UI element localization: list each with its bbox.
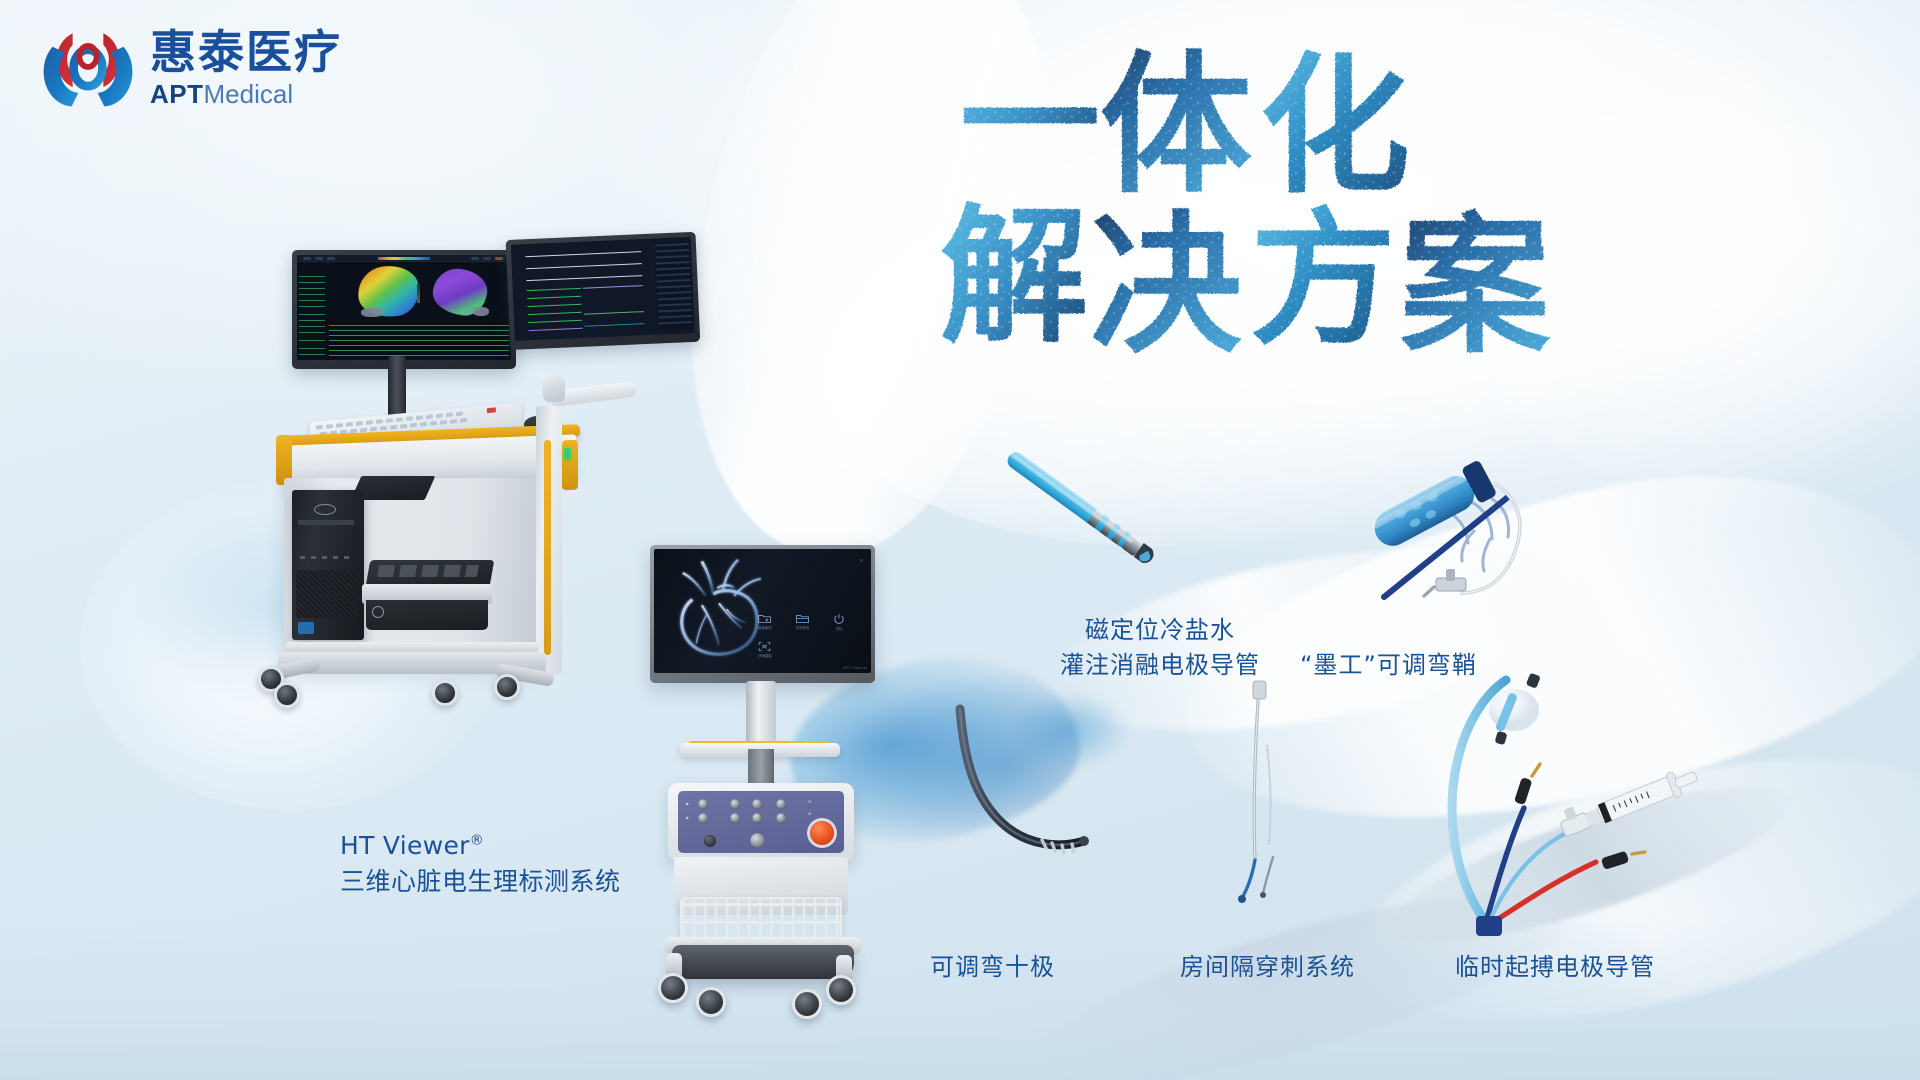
- svg-text:案: 案: [1400, 200, 1551, 374]
- monitor-indicator-dot: [860, 559, 863, 562]
- printer-power-button[interactable]: [372, 606, 384, 618]
- connector-port[interactable]: [698, 813, 708, 823]
- keyboard-red-key[interactable]: [487, 407, 496, 413]
- connector-port[interactable]: [698, 799, 708, 809]
- decapolar-catheter-image: [950, 715, 1090, 935]
- mapping-monitor-screen: [297, 255, 511, 360]
- label-pacing-line1: 临时起搏电极导管: [1455, 947, 1655, 982]
- ep-procedure-cart: 新建病例 历史病例 关机: [650, 545, 910, 1045]
- svg-text:化: 化: [1260, 40, 1410, 214]
- trademark-symbol: ®: [470, 833, 484, 849]
- apt-medical-loop-logo-icon: [40, 18, 136, 114]
- monitor-neck: [746, 681, 776, 747]
- mapping-label: 快速建模: [758, 653, 772, 658]
- transseptal-puncture-system-image: [1215, 685, 1305, 935]
- brand-name-medical: Medical: [204, 79, 294, 109]
- mapping-icon[interactable]: 快速建模: [758, 641, 772, 658]
- ecg-monitor: [506, 232, 701, 350]
- svg-text:一: 一: [960, 41, 1100, 204]
- label-irrigated-line2: 灌注消融电极导管: [1040, 648, 1280, 683]
- connector-port[interactable]: [776, 813, 786, 823]
- open-folder-icon[interactable]: 历史病例: [796, 613, 810, 630]
- heart-display-screen: 新建病例 历史病例 关机: [654, 549, 871, 673]
- label-temporary-pacing-catheter: 临时起搏电极导管: [1455, 947, 1655, 982]
- label-deca-line1: 可调弯十极: [930, 947, 1055, 982]
- caster-wheel: [494, 674, 520, 700]
- svg-text:体: 体: [1100, 37, 1252, 214]
- tower-logo: [314, 504, 336, 515]
- brand-name-en: APTMedical: [150, 80, 342, 109]
- power-label: 关机: [833, 626, 845, 631]
- printer-paper-tray: [377, 565, 479, 577]
- brand-name-apt: APT: [150, 79, 204, 109]
- new-study-label: 新建病例: [758, 625, 772, 630]
- mapping-monitor: [292, 250, 516, 369]
- heart-display-icon-row: 新建病例 历史病例 关机: [756, 611, 860, 668]
- steerable-sheath-image: [1390, 435, 1680, 630]
- cart-base: [672, 945, 854, 979]
- laser-printer: [362, 560, 492, 632]
- ep-caster-wheel: [792, 989, 822, 1019]
- caster-wheel: [274, 682, 300, 708]
- open-folder-label: 历史病例: [796, 625, 810, 630]
- svg-text:解: 解: [940, 191, 1088, 363]
- ep-caster-wheel: [826, 975, 856, 1005]
- tower-vent-mesh: [296, 570, 358, 618]
- connector-port[interactable]: [730, 813, 740, 823]
- poster-canvas: 惠泰医疗 APTMedical: [0, 0, 1920, 1080]
- workstation-tower: [292, 490, 364, 640]
- brand-wordmark: 惠泰医疗 APTMedical: [150, 24, 342, 109]
- cart-column-accent-strip: [544, 440, 551, 655]
- tower-port-row: [300, 556, 350, 559]
- power-led-indicator: [564, 448, 571, 460]
- label-sheath-line1: “墨工”可调弯鞘: [1300, 645, 1477, 680]
- irrigated-ablation-catheter-image: [1000, 440, 1180, 590]
- bottom-gradient-fade: [0, 920, 1920, 1080]
- tower-badge: [298, 622, 314, 634]
- label-decapolar-catheter: 可调弯十极: [930, 947, 1055, 982]
- label-irrigated-ablation-catheter: 磁定位冷盐水 灌注消融电极导管: [1040, 613, 1280, 683]
- monitor-arm-joint: [543, 376, 565, 402]
- ecg-monitor-screen: [511, 237, 695, 341]
- label-irrigated-line1: 磁定位冷盐水: [1040, 613, 1280, 648]
- label-steerable-sheath: “墨工”可调弯鞘: [1300, 645, 1477, 680]
- connector-port[interactable]: [752, 799, 762, 809]
- svg-text:方: 方: [1250, 195, 1396, 365]
- brand-name-cn: 惠泰医疗: [150, 28, 342, 76]
- label-ht-viewer-cn: 三维心脏电生理标测系统: [340, 864, 621, 900]
- label-septal-line1: 房间隔穿刺系统: [1180, 947, 1355, 982]
- label-transseptal-system: 房间隔穿刺系统: [1180, 947, 1355, 982]
- connector-port[interactable]: [752, 813, 762, 823]
- stop-button[interactable]: [810, 821, 834, 845]
- connector-interface-module: ▶ ▶ ⊟ ⊞: [668, 783, 854, 861]
- brand-logo: 惠泰医疗 APTMedical: [40, 18, 342, 114]
- reference-port[interactable]: [750, 833, 765, 848]
- grounding-port[interactable]: [704, 835, 716, 847]
- svg-text:决: 决: [1090, 197, 1242, 374]
- connector-panel: ▶ ▶ ⊟ ⊞: [678, 791, 844, 853]
- heart-display-monitor: 新建病例 历史病例 关机: [650, 545, 875, 683]
- label-ht-viewer: HT Viewer® 三维心脏电生理标测系统: [340, 828, 621, 899]
- ep-caster-wheel: [658, 973, 688, 1003]
- caster-wheel: [432, 680, 458, 706]
- ep-caster-wheel: [696, 987, 726, 1017]
- temporary-pacing-catheter-image: [1440, 670, 1740, 930]
- connector-port[interactable]: [776, 799, 786, 809]
- label-ht-viewer-en: HT Viewer®: [340, 828, 621, 864]
- tower-optical-drive: [298, 520, 354, 525]
- new-study-icon[interactable]: 新建病例: [758, 613, 772, 630]
- headline-calligraphy: 一 体 化 一 体 化 解 决 方 案 解 决 方 案: [950, 38, 1670, 348]
- connector-port[interactable]: [730, 799, 740, 809]
- screen-brand-text: APT Medical: [843, 666, 867, 670]
- power-icon[interactable]: 关机: [833, 613, 845, 631]
